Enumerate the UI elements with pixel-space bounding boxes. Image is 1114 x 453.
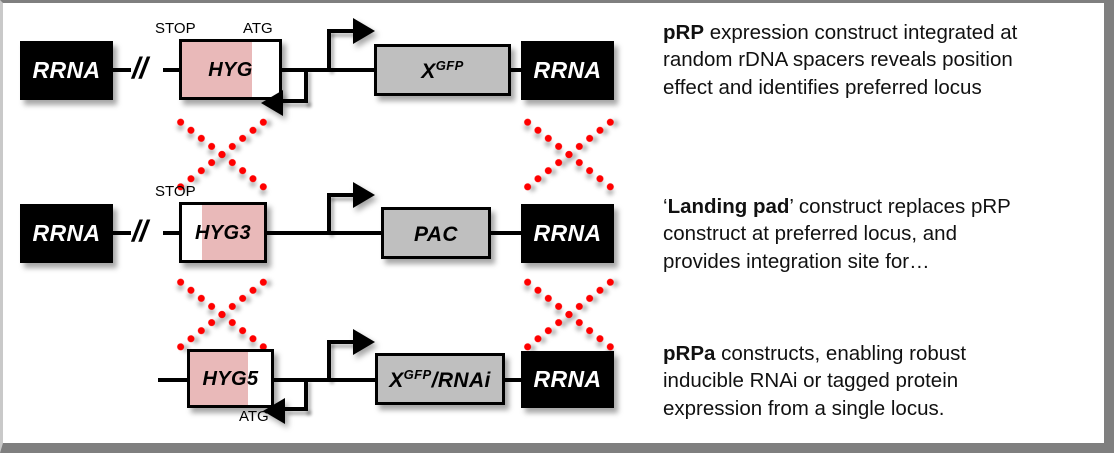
row1-cassette-label: XGFP [421,59,463,82]
caption-prp: pRP expression construct integrated at r… [663,19,1103,101]
crossing-x-left-bottom [166,275,278,347]
row1-promoter-forward-arrowhead [353,18,375,44]
row1-break-symbol: // [132,54,147,84]
row1-cassette-superscript: GFP [436,58,464,73]
row3-cassette-tail: /RNAi [432,369,491,392]
diagram-canvas: RRNA // HYG STOP ATG XGFP RRNA RRNA // [3,3,1104,443]
caption-prpa-line-3: expression from a single locus. [663,395,1103,422]
row1-promoter-reverse-stem [304,68,308,103]
row2-hyg3-box: HYG3 [179,202,267,263]
row1-stop-tag: STOP [155,20,196,37]
caption-prp-line-1: pRP expression construct integrated at [663,19,1103,46]
caption-lp-line-1: ‘Landing pad’ construct replaces pRP [663,193,1103,220]
row2-line-rrna-to-break [113,231,131,235]
caption-prp-line-2: random rDNA spacers reveals position [663,46,1103,73]
caption-prp-line1-rest: expression construct integrated at [704,21,1017,44]
figure-frame: RRNA // HYG STOP ATG XGFP RRNA RRNA // [0,0,1114,453]
row3-promoter-forward-stem [327,340,331,380]
row1-atg-tag: ATG [243,20,273,37]
row2-hyg3-label: HYG3 [195,223,251,243]
row3-hyg5-label: HYG5 [202,369,258,389]
crossing-x-right-top [513,115,625,187]
caption-prpa-bold: pRPa [663,342,715,365]
row3-line-hyg5-to-promoter [273,378,376,382]
row1-left-rrna-box: RRNA [20,41,113,100]
crossing-x-right-bottom [513,275,625,347]
row3-cassette-box: XGFP/RNAi [375,353,505,405]
row1-promoter-reverse-arrowhead [261,90,283,116]
row1-cassette-main: X [421,60,435,83]
row3-promoter-forward-arm [327,340,355,344]
caption-prp-line-3: effect and identifies preferred locus [663,74,1103,101]
caption-lp-bold: Landing pad [668,195,790,218]
row2-right-rrna-label: RRNA [533,222,601,245]
caption-landing-pad: ‘Landing pad’ construct replaces pRP con… [663,193,1103,275]
row1-line-rrna-to-break [113,68,131,72]
caption-lp-line1-rest: construct replaces pRP [793,195,1011,218]
row3-promoter-reverse-arm [285,407,308,411]
row2-cassette-main: PAC [414,223,458,246]
row1-promoter-reverse-arm [283,99,308,103]
caption-prp-bold: pRP [663,21,704,44]
row2-right-rrna-box: RRNA [521,204,614,263]
row2-promoter-stem [327,193,331,233]
caption-prpa: pRPa constructs, enabling robust inducib… [663,340,1103,422]
row1-left-rrna-label: RRNA [32,59,100,82]
row1-right-rrna-label: RRNA [533,59,601,82]
row3-cassette-label: XGFP/RNAi [389,368,491,391]
caption-lp-line-2: construct at preferred locus, and [663,220,1103,247]
row1-promoter-forward-arm [327,29,355,33]
row2-promoter-arrowhead [353,182,375,208]
row3-line-left-stub [158,378,188,382]
caption-lp-line-3: provides integration site for… [663,248,1103,275]
row3-cassette-main: X [389,369,403,392]
row2-promoter-arm [327,193,355,197]
crossing-x-left-top [166,115,278,187]
row1-cassette-box: XGFP [374,44,511,96]
row3-right-rrna-label: RRNA [533,368,601,391]
row3-promoter-forward-arrowhead [353,329,375,355]
caption-prpa-line-2: inducible RNAi or tagged protein [663,367,1103,394]
caption-prpa-line-1: pRPa constructs, enabling robust [663,340,1103,367]
row2-cassette-box: PAC [381,207,491,259]
caption-prpa-line1-rest: constructs, enabling robust [715,342,966,365]
row3-cassette-superscript: GFP [404,367,432,382]
row1-promoter-forward-stem [327,29,331,70]
row2-stop-tag: STOP [155,183,196,200]
row2-line-pac-to-rrna [489,231,521,235]
row2-left-rrna-box: RRNA [20,204,113,263]
row2-cassette-label: PAC [414,222,458,245]
row3-hyg5-box: HYG5 [187,349,274,408]
row2-left-rrna-label: RRNA [32,222,100,245]
row1-hyg-label: HYG [208,60,253,80]
row2-line-hyg3-to-pac [266,231,382,235]
row1-right-rrna-box: RRNA [521,41,614,100]
row3-promoter-reverse-arrowhead [263,398,285,424]
row3-line-cassette-to-rrna [503,378,523,382]
row2-break-symbol: // [132,217,147,247]
row3-right-rrna-box: RRNA [521,351,614,408]
